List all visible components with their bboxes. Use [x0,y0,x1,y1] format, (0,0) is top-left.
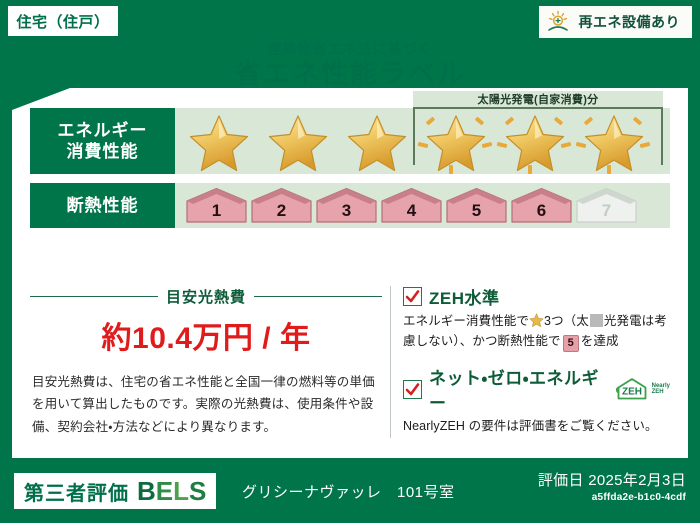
insulation-level-3: 3 [315,187,378,224]
cost-rule-right [254,296,382,297]
performance-section: エネルギー 消費性能 太陽光発電(自家消費)分 断熱性能 1234567 [30,108,670,237]
insulation-performance-value: 1234567 [175,183,670,228]
star-3 [339,113,415,173]
utility-cost-title: 目安光熱費 [166,286,246,307]
insulation-level-scale: 1234567 [185,187,638,224]
evaluation-date: 評価日 2025年2月3日 [538,469,686,490]
insulation-level-number: 3 [342,201,351,221]
insulation-level-number: 2 [277,201,286,221]
zeh-standard-checkbox [403,287,422,306]
insulation-level-number: 5 [472,201,481,221]
svg-text:ZEH: ZEH [622,387,642,398]
building-type-label: 住宅（住戸） [16,11,109,32]
insulation-level-number: 4 [407,201,416,221]
renewable-badge-label: 再エネ設備あり [579,12,681,32]
zeh-block: ZEH水準 エネルギー消費性能で3つ（太光発電は考慮しない）、かつ断熱性能で5を… [403,284,670,444]
zeh-standard-heading: ZEH水準 [403,284,670,309]
zeh-body-part-a: エネルギー消費性能で [403,314,529,328]
star-2 [260,113,336,173]
bels-certification-mark: 第三者評価 BELS [14,473,216,509]
bels-en-label: BELS [137,478,206,504]
evaluation-info: 評価日 2025年2月3日 a5ffda2e-b1c0-4cdf [538,469,686,503]
building-type-tag: 住宅（住戸） [8,6,118,36]
zeh-logo-sub-line2: ZEH [652,389,664,395]
utility-cost-block: 目安光熱費 約10.4万円 / 年 目安光熱費は、住宅の省エネ性能と全国一律の燃… [30,284,382,444]
zeh-house-icon: ZEH [615,377,649,401]
zeh-standard-title: ZEH水準 [429,284,500,309]
insulation-level-2: 2 [250,187,313,224]
solar-sun-icon [547,10,573,34]
zeh-logo: ZEH Nearly ZEH [615,377,670,401]
cost-rule-left [30,296,158,297]
building-name: グリシーナヴァッレ 101号室 [242,481,455,502]
zeh-body-star-count: 3つ（太 [544,314,589,328]
insulation-performance-key: 断熱性能 [30,183,175,228]
utility-cost-note: 目安光熱費は、住宅の省エネ性能と全国一律の燃料等の単価を用いて算出したものです。… [30,371,382,438]
insulation-level-5: 5 [445,187,508,224]
redacted-mark [590,314,603,327]
check-icon [405,382,420,397]
star-1 [181,113,257,173]
net-zero-heading: ネット・ゼロ・エネルギー ZEH Nearly ZEH [403,364,670,414]
energy-performance-label: 住宅（住戸） 再エネ設備あり 建築物省エネ法に基づく 省エネ性能ラベル [0,0,700,523]
insulation-level-number: 7 [602,201,611,221]
zeh-logo-sub-line1: Nearly [652,383,670,389]
net-zero-checkbox [403,380,422,399]
star-6 [576,113,652,173]
zeh-logo-subtext: Nearly ZEH [652,383,670,396]
star-rating [181,113,652,173]
utility-cost-amount: 約10.4万円 / 年 [30,313,382,357]
energy-performance-value: 太陽光発電(自家消費)分 [175,108,670,174]
inline-star-icon [529,313,544,328]
zeh-standard-body: エネルギー消費性能で3つ（太光発電は考慮しない）、かつ断熱性能で5を達成 [403,311,670,352]
energy-performance-row: エネルギー 消費性能 太陽光発電(自家消費)分 [30,108,670,174]
bels-jp-label: 第三者評価 [24,477,129,506]
main-panel: エネルギー 消費性能 太陽光発電(自家消費)分 断熱性能 1234567 [12,88,688,458]
star-icon [265,112,331,174]
zeh-body-part-c: を達成 [581,334,619,348]
insulation-level-7: 7 [575,187,638,224]
net-zero-title: ネット・ゼロ・エネルギー [429,364,603,414]
insulation-performance-row: 断熱性能 1234567 [30,183,670,228]
evaluation-id: a5ffda2e-b1c0-4cdf [538,492,686,503]
check-icon [405,289,420,304]
net-zero-body: NearlyZEH の要件は評価書をご覧ください。 [403,416,670,436]
energy-key-line2: 消費性能 [67,141,139,162]
lower-section: 目安光熱費 約10.4万円 / 年 目安光熱費は、住宅の省エネ性能と全国一律の燃… [30,284,670,444]
solar-sparkle-5 [449,165,453,174]
insulation-level-4: 4 [380,187,443,224]
solar-sparkle-5 [528,165,532,174]
star-icon [186,112,252,174]
insulation-key-label: 断熱性能 [67,195,139,216]
solar-bracket-caption: 太陽光発電(自家消費)分 [413,91,663,107]
renewable-equipment-badge: 再エネ設備あり [539,6,693,38]
energy-key-line1: エネルギー [58,120,148,141]
energy-performance-key: エネルギー 消費性能 [30,108,175,174]
star-5 [497,113,573,173]
section-divider [390,286,391,438]
star-icon [344,112,410,174]
insulation-level-1: 1 [185,187,248,224]
solar-sparkle-5 [607,165,611,174]
footer-band: 第三者評価 BELS グリシーナヴァッレ 101号室 評価日 2025年2月3日… [0,461,700,523]
star-4 [418,113,494,173]
insulation-level-number: 6 [537,201,546,221]
insulation-level-6: 6 [510,187,573,224]
utility-cost-header: 目安光熱費 [30,286,382,307]
insulation-level-number: 1 [212,201,221,221]
zeh-insulation-level-chip: 5 [563,335,579,352]
